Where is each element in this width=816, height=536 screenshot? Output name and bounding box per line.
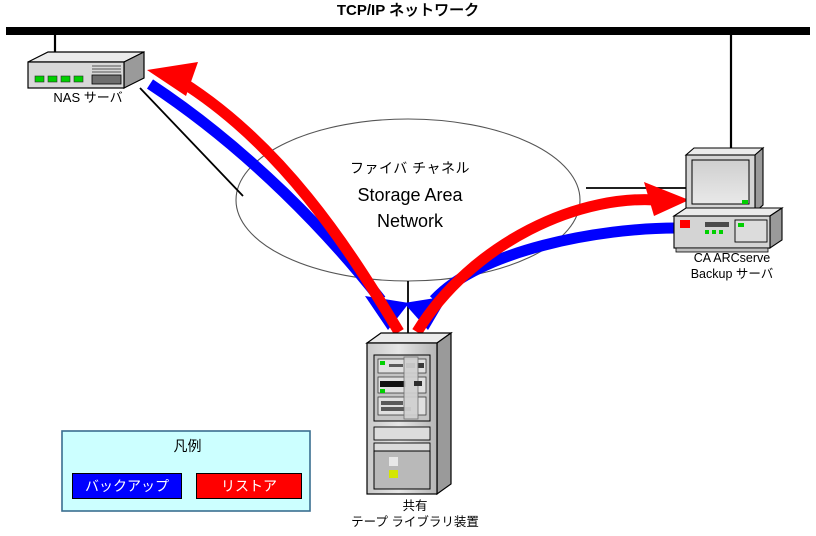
arcserve-label-line2: Backup サーバ	[691, 267, 774, 281]
arcserve-label-line1: CA ARCserve	[694, 251, 770, 265]
tape-label-line1: 共有	[402, 499, 427, 513]
cloud-subtitle: ファイバ チャネル	[295, 160, 525, 178]
tape-library-label: 共有 テープ ライブラリ装置	[330, 499, 500, 530]
nas-server-label: NAS サーバ	[8, 90, 168, 106]
legend-swatch-backup: バックアップ	[72, 473, 182, 499]
cloud-title-line1: Storage Area	[357, 185, 462, 205]
page-title: TCP/IP ネットワーク	[258, 2, 558, 21]
legend-title: 凡例	[60, 438, 315, 456]
cloud-title-line2: Network	[377, 211, 443, 231]
nas-server-icon	[28, 52, 144, 88]
tape-library-icon	[367, 333, 451, 494]
legend-swatch-restore: リストア	[196, 473, 302, 499]
arcserve-server-label: CA ARCserve Backup サーバ	[657, 251, 807, 282]
tape-label-line2: テープ ライブラリ装置	[351, 515, 479, 529]
cloud-title: Storage Area Network	[295, 182, 525, 234]
arcserve-server-icon	[674, 148, 782, 252]
